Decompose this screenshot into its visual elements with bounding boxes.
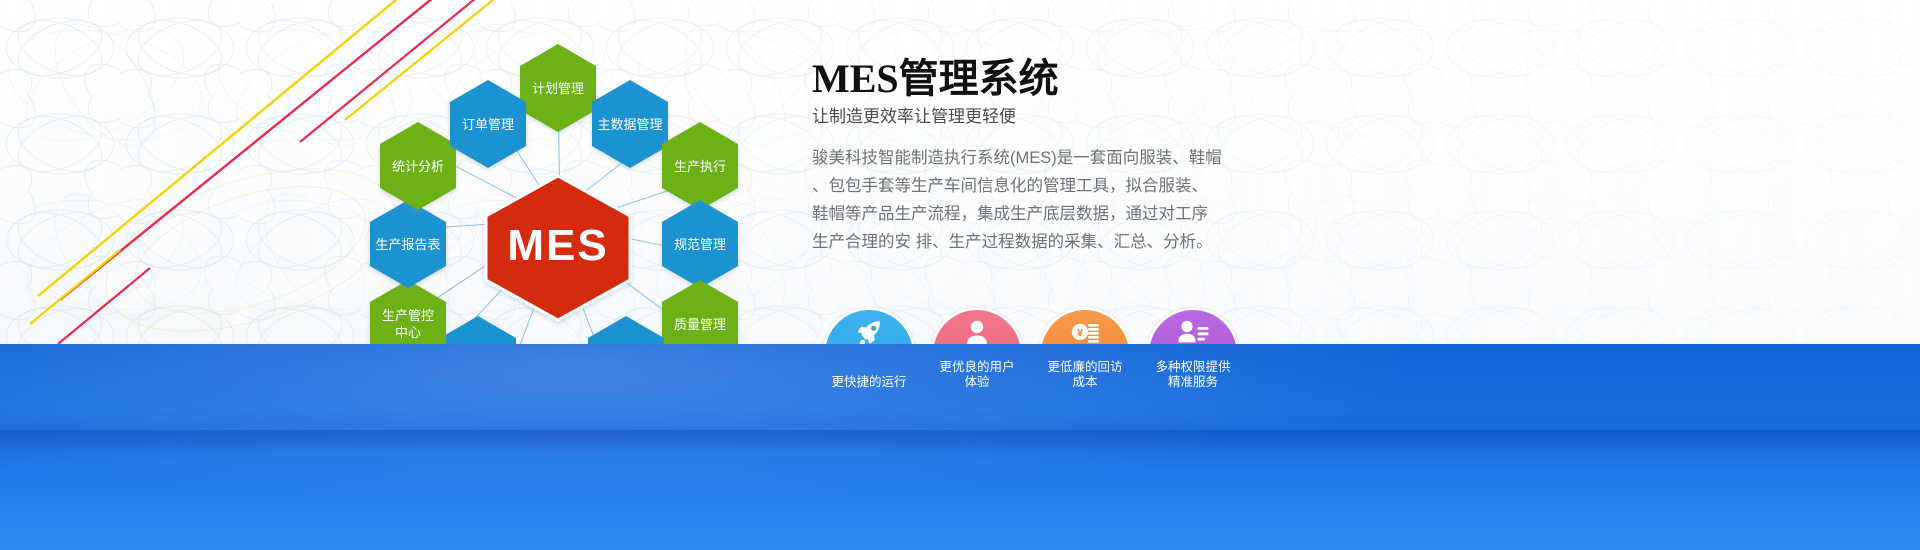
hex-label-line2: 中心	[395, 325, 421, 340]
hex-node-statistics[interactable]: 统计分析	[380, 122, 456, 210]
hex-node-production-exec[interactable]: 生产执行	[662, 122, 738, 210]
hex-label: 质量管理	[674, 317, 726, 332]
page-title: MES管理系统	[812, 56, 1332, 102]
hex-label: 规范管理	[674, 237, 726, 252]
paragraph-line: 生产合理的安 排、生产过程数据的采集、汇总、分析。	[812, 228, 1332, 256]
hex-node-report[interactable]: 生产报告表	[370, 200, 446, 288]
banner-stage: 计划管理 主数据管理 生产执行 规范管理 质量管理 仓库管理 车	[0, 0, 1920, 550]
page-subtitle: 让制造更效率让管理更轻便	[812, 106, 1332, 128]
hex-node-order-mgmt[interactable]: 订单管理	[450, 80, 526, 168]
hex-label: 订单管理	[462, 117, 514, 132]
hex-label-line1: 生产管控	[382, 308, 434, 323]
paragraph-line: 、包包手套等生产车间信息化的管理工具，拟合服装、	[812, 172, 1332, 200]
badge-label: 更优良的用户 体验	[931, 360, 1023, 390]
hex-label: 生产执行	[674, 159, 726, 174]
hex-node-plan[interactable]: 计划管理	[520, 44, 596, 132]
paragraph-line: 鞋帽等产品生产流程，集成生产底层数据，通过对工序	[812, 200, 1332, 228]
hex-node-standard-mgmt[interactable]: 规范管理	[662, 200, 738, 288]
hex-label: 统计分析	[392, 159, 444, 174]
hex-label: 计划管理	[532, 81, 584, 96]
hex-label: 生产报告表	[375, 237, 440, 252]
badge-label: 更低廉的回访 成本	[1039, 360, 1131, 390]
hex-label: 主数据管理	[597, 117, 662, 132]
badge-label: 多种权限提供 精准服务	[1147, 360, 1239, 390]
paragraph-line: 骏美科技智能制造执行系统(MES)是一套面向服装、鞋帽	[812, 144, 1332, 172]
copy-column: MES管理系统 让制造更效率让管理更轻便 骏美科技智能制造执行系统(MES)是一…	[812, 56, 1332, 256]
description-paragraph: 骏美科技智能制造执行系统(MES)是一套面向服装、鞋帽 、包包手套等生产车间信息…	[812, 144, 1332, 256]
hex-node-master-data[interactable]: 主数据管理	[592, 80, 668, 168]
badge-label: 更快捷的运行	[823, 375, 915, 390]
bottom-band-stripe	[0, 430, 1920, 452]
center-label: MES	[507, 221, 608, 270]
hex-node-center-mes[interactable]: MES	[486, 176, 630, 320]
svg-text:¥: ¥	[1077, 328, 1084, 340]
